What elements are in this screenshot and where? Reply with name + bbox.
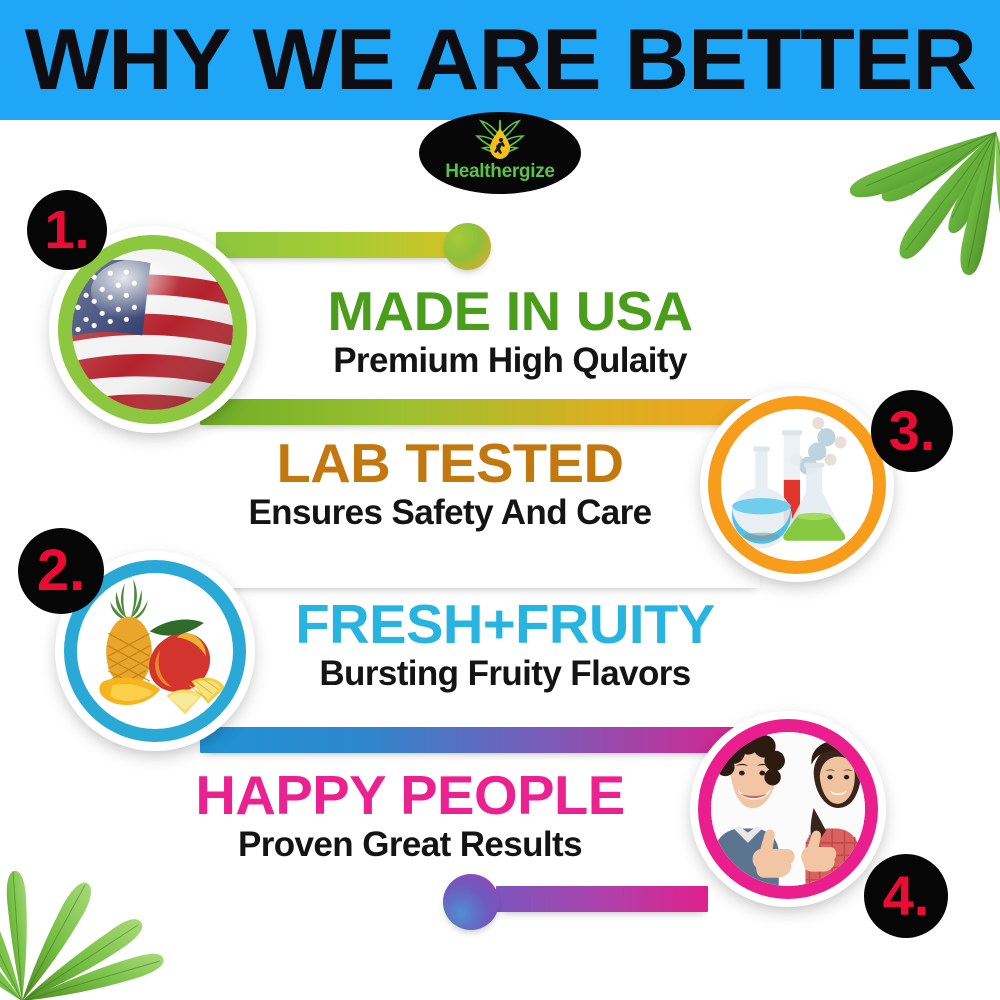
page-title: WHY WE ARE BETTER — [24, 17, 975, 103]
feature-circle-lab-tested[interactable] — [700, 388, 894, 582]
feature-text-happy-people: HAPPY PEOPLE Proven Great Results — [160, 767, 660, 864]
infographic-canvas: WHY WE ARE BETTER — [0, 0, 1000, 1000]
feature-text-fresh-fruity: FRESH+FRUITY Bursting Fruity Flavors — [260, 596, 750, 693]
badge-number: 2. — [37, 542, 85, 600]
green-yellow-dot — [444, 223, 491, 270]
usa-flag-sphere-icon — [72, 249, 233, 410]
brand-name: Healthergize — [445, 161, 554, 183]
happy-couple-thumbs-up-icon — [711, 732, 865, 886]
feature-text-lab-tested: LAB TESTED Ensures Safety And Care — [210, 435, 690, 532]
happy-people-ring — [698, 719, 878, 899]
badge-number: 3. — [889, 403, 936, 459]
feature-badge-4: 4. — [864, 854, 948, 938]
lab-tested-ring — [708, 396, 886, 574]
feature-subtitle: Ensures Safety And Care — [210, 493, 690, 532]
feature-title: FRESH+FRUITY — [255, 596, 755, 652]
green-to-yellow-bar — [216, 232, 451, 258]
cannabis-leaf-icon — [778, 118, 1000, 358]
tropical-fruit-icon — [77, 573, 233, 729]
feature-circle-happy-people[interactable] — [690, 711, 886, 907]
feature-badge-2: 2. — [18, 528, 104, 614]
feature-subtitle: Premium High Qulaity — [280, 341, 740, 380]
header-banner: WHY WE ARE BETTER — [0, 0, 1000, 120]
feature-subtitle: Bursting Fruity Flavors — [260, 654, 750, 693]
feature-subtitle: Proven Great Results — [160, 825, 660, 864]
green-to-orange-bar — [200, 399, 760, 425]
feature-title: HAPPY PEOPLE — [155, 767, 665, 823]
purple-magenta-dot — [443, 874, 499, 930]
feature-badge-1: 1. — [27, 190, 107, 270]
feature-title: LAB TESTED — [205, 435, 695, 491]
purple-to-magenta-bar — [496, 886, 708, 912]
badge-number: 1. — [44, 203, 89, 257]
feature-badge-3: 3. — [871, 390, 953, 472]
lab-flasks-icon — [721, 409, 873, 561]
feature-text-made-in-usa: MADE IN USA Premium High Qulaity — [280, 283, 740, 380]
badge-number: 4. — [883, 868, 930, 924]
blue-to-magenta-bar — [200, 727, 760, 753]
feature-title: MADE IN USA — [275, 283, 744, 339]
teal-to-orange-bar — [200, 562, 760, 588]
cannabis-leaf-droplet-runner-icon — [466, 116, 534, 160]
brand-logo[interactable]: Healthergize — [419, 112, 581, 194]
